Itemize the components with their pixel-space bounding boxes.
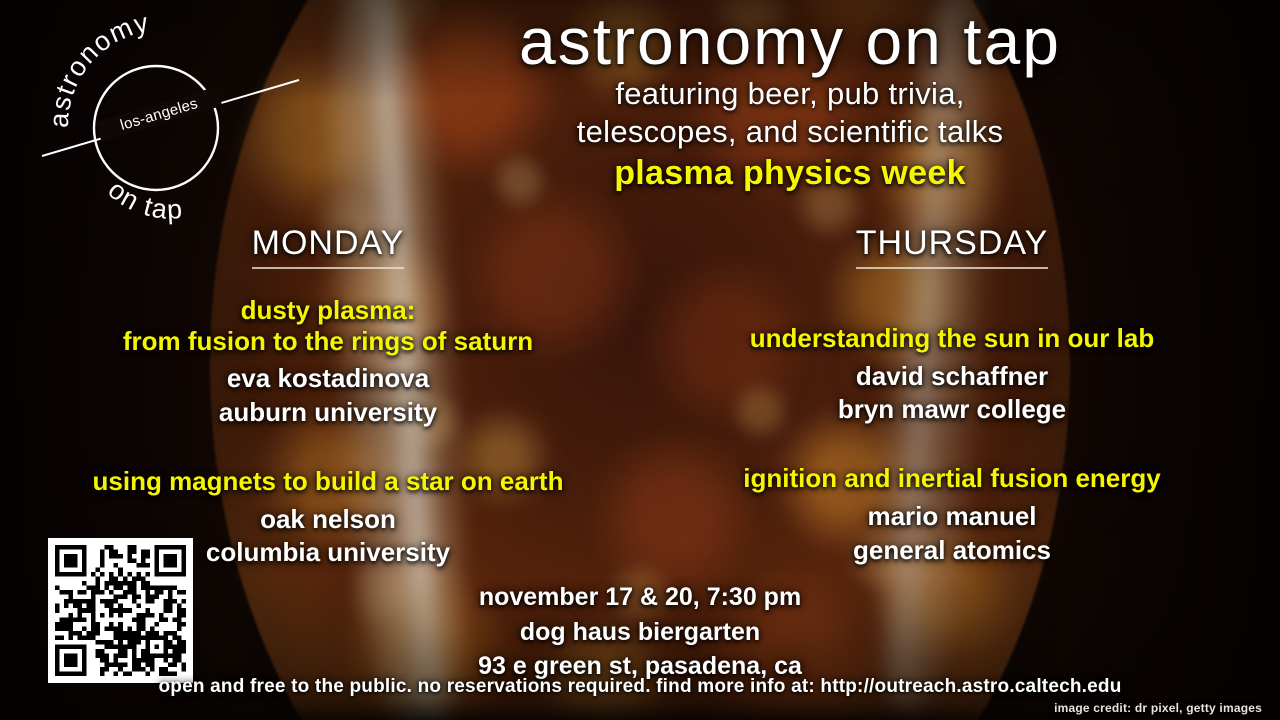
venue-name: dog haus biergarten <box>340 615 940 650</box>
talk-title-line-2: from fusion to the rings of saturn <box>28 326 628 357</box>
talk-affiliation: bryn mawr college <box>652 393 1252 427</box>
page-title: astronomy on tap <box>320 8 1260 75</box>
venue-block: november 17 & 20, 7:30 pm dog haus bierg… <box>340 580 940 684</box>
logo-bottom-arc-text: on tap <box>102 174 184 225</box>
event-datetime: november 17 & 20, 7:30 pm <box>340 580 940 615</box>
talk-title-line-1: understanding the sun in our lab <box>652 323 1252 354</box>
talk-title-line-1: dusty plasma: <box>28 295 628 326</box>
logo-center-line-text: los-angeles <box>118 95 200 134</box>
day-heading-monday: MONDAY <box>252 224 405 269</box>
footer-note: open and free to the public. no reservat… <box>0 676 1280 698</box>
talk-speaker: david schaffner <box>652 360 1252 394</box>
subtitle-line-2: telescopes, and scientific talks <box>320 113 1260 151</box>
theme-highlight: plasma physics week <box>320 151 1260 197</box>
talk-thursday-1: understanding the sun in our lab david s… <box>652 323 1252 427</box>
qr-code-image <box>55 545 186 676</box>
talk-thursday-2: ignition and inertial fusion energy mari… <box>652 463 1252 567</box>
logo-center-label-group: los-angeles <box>96 87 222 142</box>
talk-affiliation: auburn university <box>28 396 628 430</box>
day-column-thursday: THURSDAY understanding the sun in our la… <box>652 224 1252 568</box>
poster-header: astronomy on tap featuring beer, pub tri… <box>320 8 1260 197</box>
talk-affiliation: general atomics <box>652 534 1252 568</box>
talk-title-line-1: using magnets to build a star on earth <box>28 466 628 497</box>
subtitle-line-1: featuring beer, pub trivia, <box>320 75 1260 113</box>
day-heading-thursday: THURSDAY <box>856 224 1049 269</box>
talk-speaker: mario manuel <box>652 500 1252 534</box>
event-poster: astronomy on tap los-angeles astronomy o… <box>0 0 1280 720</box>
astronomy-on-tap-logo: astronomy on tap los-angeles <box>24 8 314 228</box>
qr-code[interactable] <box>48 538 193 683</box>
talk-speaker: eva kostadinova <box>28 362 628 396</box>
image-credit: image credit: dr pixel, getty images <box>1054 701 1262 715</box>
talk-title-line-1: ignition and inertial fusion energy <box>652 463 1252 494</box>
talk-monday-1: dusty plasma: from fusion to the rings o… <box>28 295 628 430</box>
talk-speaker: oak nelson <box>28 503 628 537</box>
day-column-monday: MONDAY dusty plasma: from fusion to the … <box>28 224 628 570</box>
